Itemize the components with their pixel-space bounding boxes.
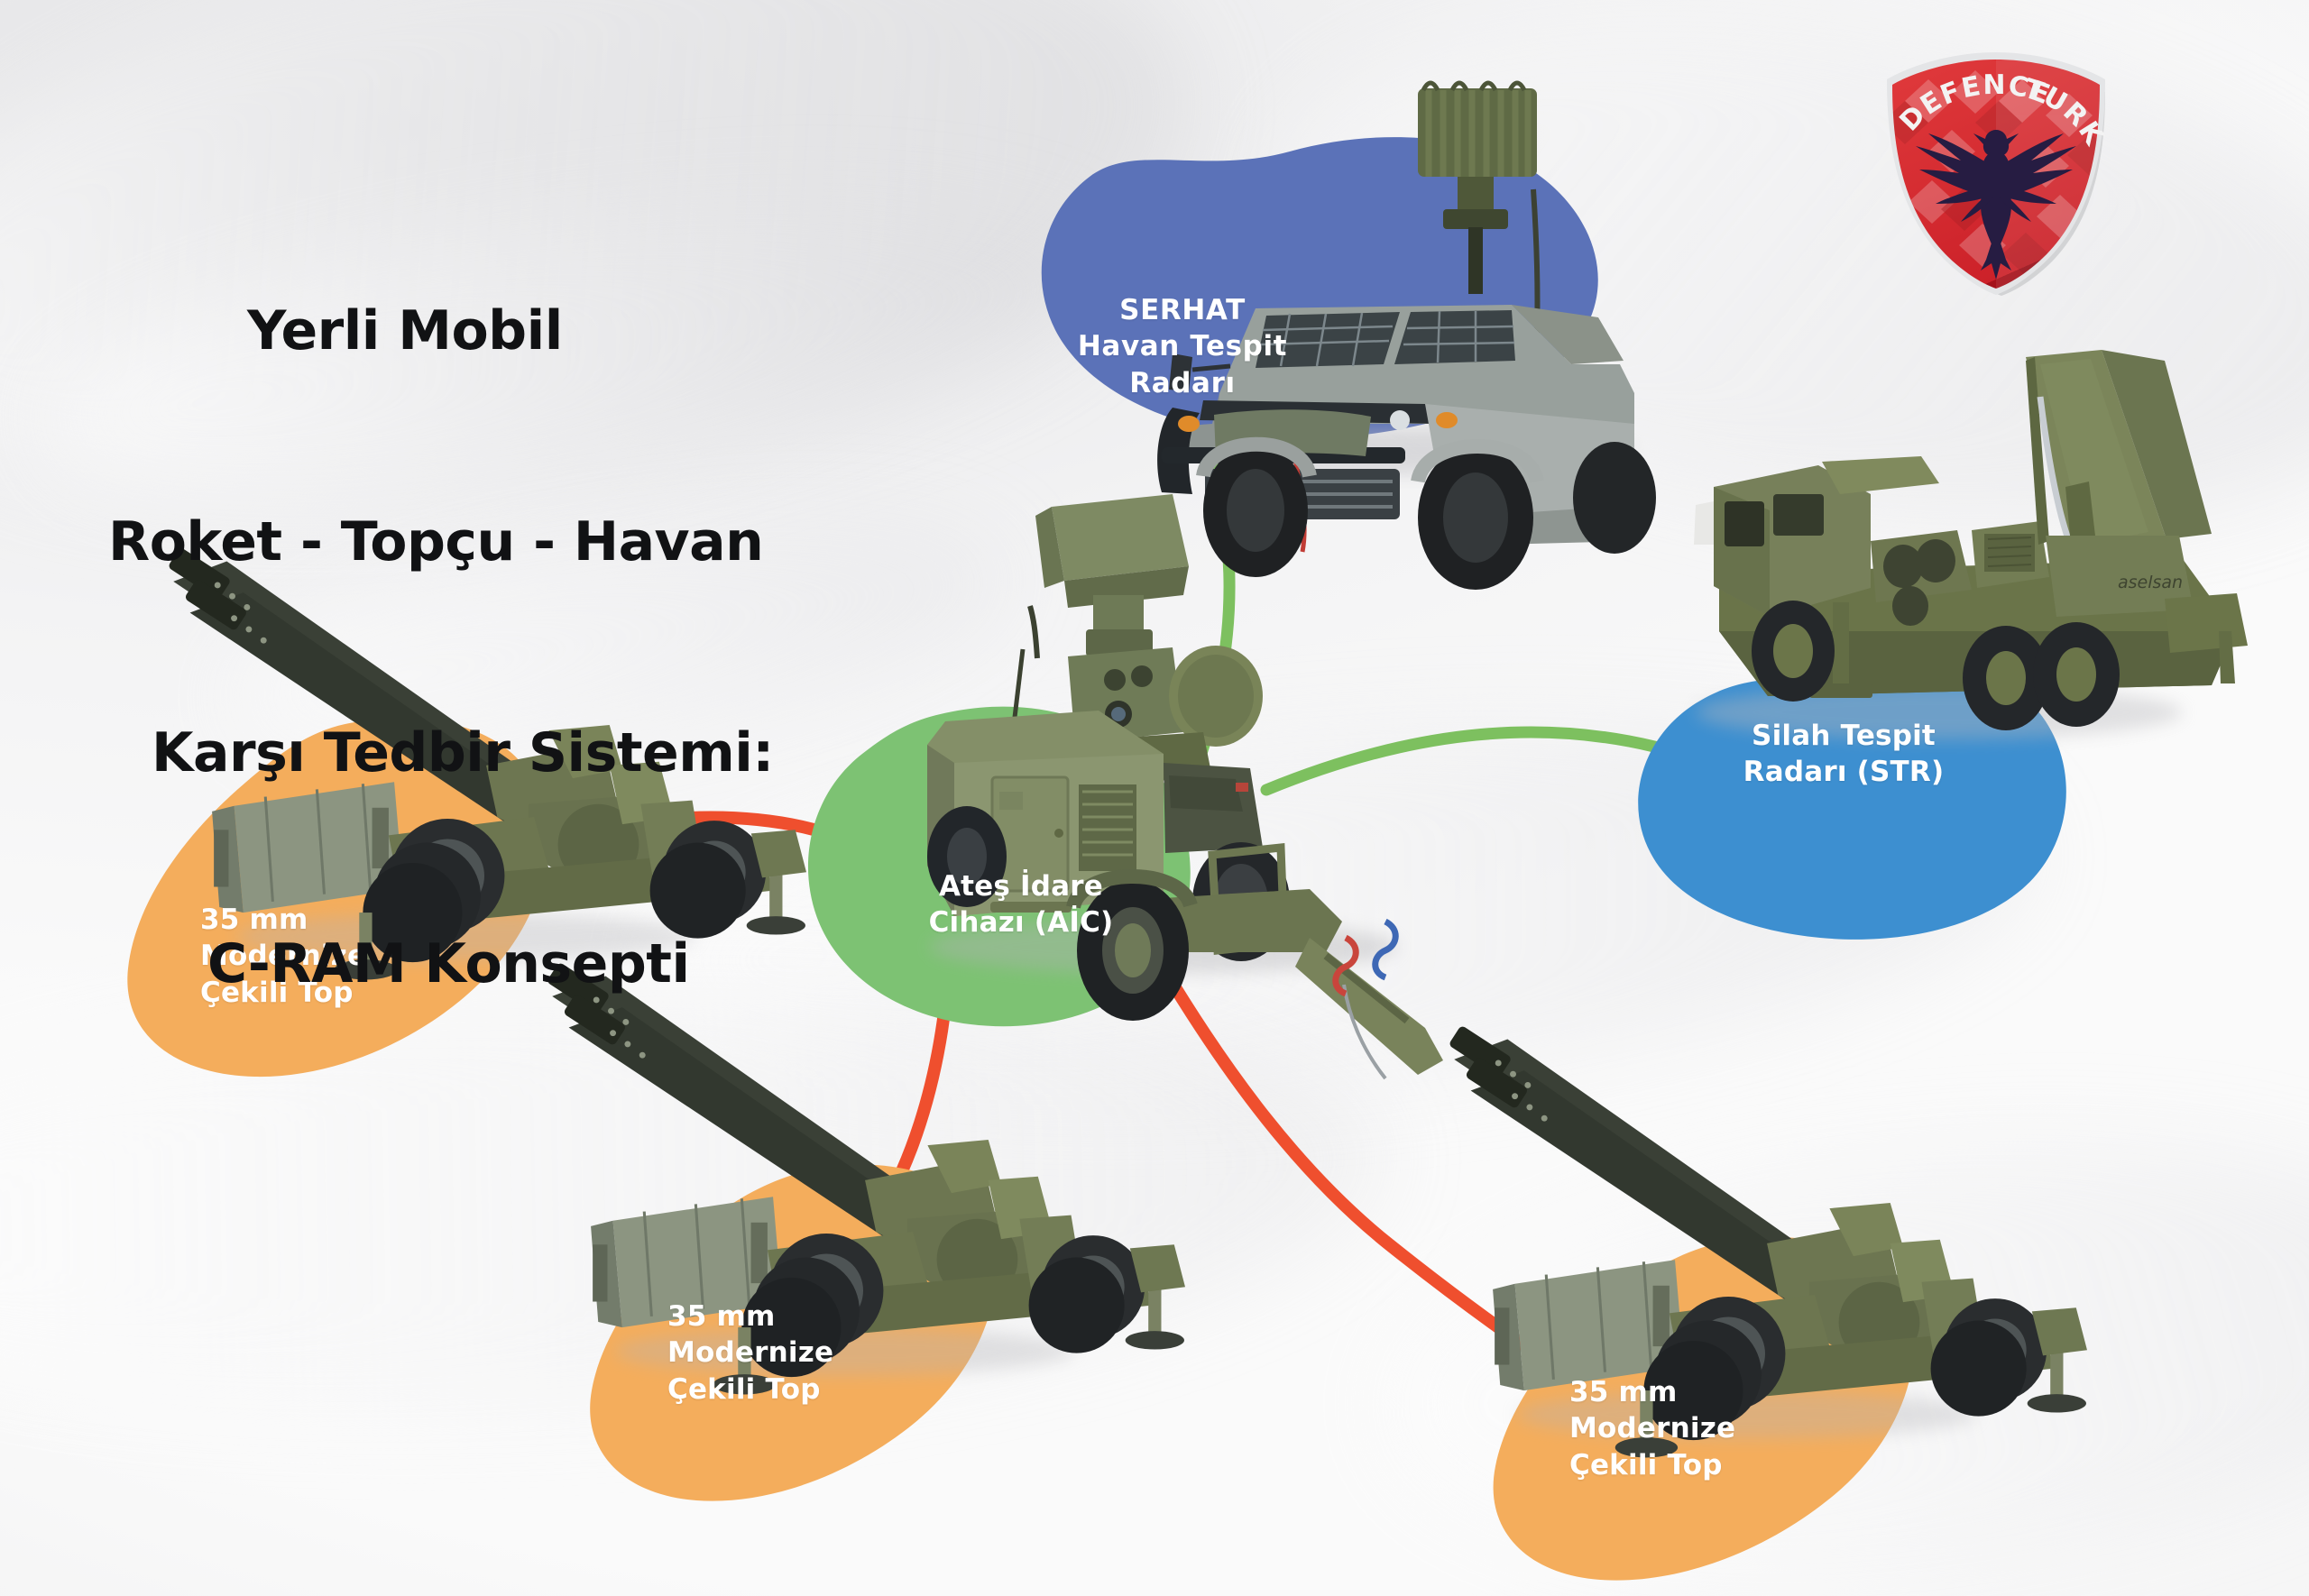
title-line-2: Roket - Topçu - Havan: [108, 507, 774, 577]
vehicle-str-radar-truck: aselsan: [1694, 350, 2248, 739]
title-line-4: C-RAM Konsepti: [207, 929, 774, 999]
title-line-1: Yerli Mobil: [247, 296, 774, 366]
defence-turk-logo: DEFENCE TURK: [1874, 43, 2118, 296]
wheel: [1203, 444, 1308, 577]
truck-marking-aselsan: aselsan: [2118, 573, 2183, 592]
title-line-3: Karşı Tedbir Sistemi:: [152, 718, 774, 788]
label-str: Silah Tespit Radarı (STR): [1681, 718, 2006, 791]
vehicle-aic-fire-control: [927, 494, 1443, 1078]
wheel: [1573, 442, 1656, 554]
wheel: [1418, 445, 1533, 590]
label-aic: Ateş İdare Cihazı (AİC): [886, 868, 1156, 941]
label-gun-right: 35 mm Modernize Çekili Top: [1569, 1374, 1858, 1483]
infographic-canvas: aselsan: [0, 0, 2309, 1596]
page-title: Yerli Mobil Roket - Topçu - Havan Karşı …: [108, 155, 774, 1140]
label-serhat: SERHAT Havan Tespit Radarı: [1034, 292, 1331, 401]
label-gun-center: 35 mm Modernize Çekili Top: [667, 1298, 956, 1408]
